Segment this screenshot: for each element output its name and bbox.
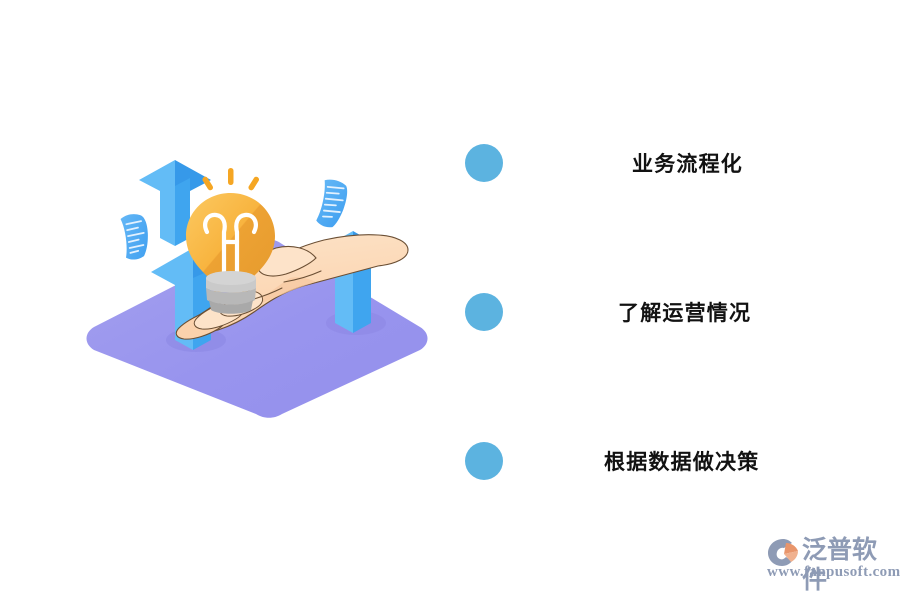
bullet-item-data-driven-decision[interactable]: 根据数据做决策 bbox=[455, 433, 875, 489]
bullet-dot-icon bbox=[465, 442, 503, 480]
bullet-item-business-process[interactable]: 业务流程化 bbox=[455, 135, 875, 191]
watermark-url: www.fanpusoft.com bbox=[767, 564, 900, 581]
hand-lightbulb-illustration bbox=[78, 160, 450, 430]
bullet-label: 业务流程化 bbox=[632, 148, 743, 178]
watermark: 泛普软件 www.fanpusoft.com bbox=[766, 533, 894, 583]
bullet-dot-icon bbox=[465, 144, 503, 182]
bulb-base bbox=[206, 271, 256, 314]
slide-canvas: 业务流程化 了解运营情况 根据数据做决策 泛普软件 www.fanpusoft.… bbox=[0, 0, 900, 600]
bullet-label: 了解运营情况 bbox=[618, 297, 751, 327]
fanpusoft-logo-icon bbox=[766, 537, 800, 567]
document-scrap-right bbox=[316, 178, 350, 229]
document-scrap-left bbox=[120, 212, 151, 260]
bullet-dot-icon bbox=[465, 293, 503, 331]
bullet-item-operations-insight[interactable]: 了解运营情况 bbox=[455, 284, 875, 340]
bullet-label: 根据数据做决策 bbox=[604, 446, 759, 476]
